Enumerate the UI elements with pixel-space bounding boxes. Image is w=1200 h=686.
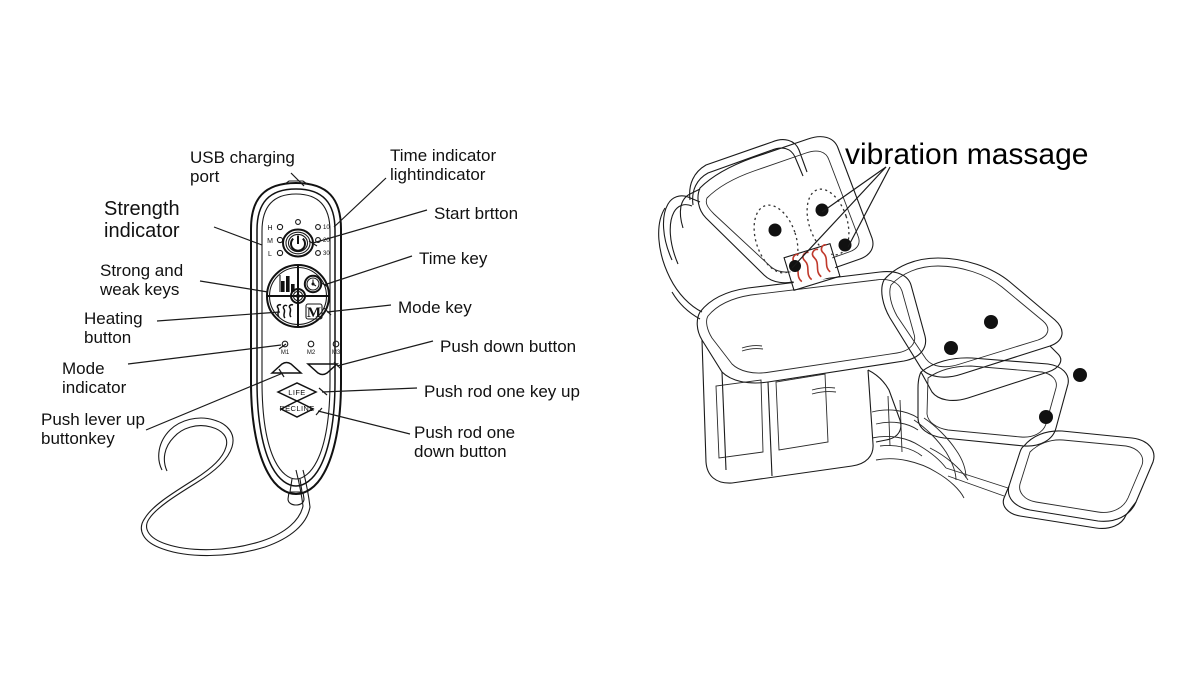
remote-cord (141, 418, 310, 555)
vibration-massage-point (984, 315, 998, 329)
callout-push-lever-up-buttonkey: Push lever up buttonkey (41, 410, 145, 448)
mode-indicator-leds: M1 M2 M3 (281, 341, 341, 356)
svg-text:M2: M2 (307, 350, 316, 356)
recliner-mechanism (872, 396, 1008, 498)
svg-text:M1: M1 (281, 350, 290, 356)
recliner-chair-illustration (659, 137, 1154, 529)
vibration-massage-point (816, 204, 829, 217)
vibration-massage-point (769, 224, 782, 237)
recline-button: RECLINE (279, 401, 314, 417)
svg-text:M: M (267, 238, 273, 245)
lift-button: LIFE (278, 383, 316, 401)
callout-usb-charging-port: USB charging port (190, 148, 295, 186)
status-led (296, 220, 301, 225)
massage-zone-outline (746, 200, 806, 279)
svg-text:LIFE: LIFE (288, 388, 305, 397)
diagram-page: H M L 10 20 30 (0, 0, 1200, 686)
vibration-massage-point (839, 239, 852, 252)
function-wheel: M (267, 265, 329, 327)
svg-text:30: 30 (323, 251, 330, 257)
vibration-massage-point (789, 260, 801, 272)
svg-text:H: H (267, 225, 272, 232)
down-chevron-button (308, 364, 337, 375)
callout-start-brtton: Start brtton (434, 204, 518, 223)
svg-text:10: 10 (323, 225, 330, 231)
svg-text:M: M (307, 305, 321, 321)
vibration-massage-point (1039, 410, 1053, 424)
callout-strong-and-weak-keys: Strong and weak keys (100, 261, 183, 299)
heat-waves-icon (277, 305, 293, 318)
callout-push-down-button: Push down button (440, 337, 576, 356)
heating-pad-icon (784, 243, 840, 290)
svg-text:M3: M3 (332, 350, 341, 356)
massage-zone-outline (799, 184, 856, 260)
chair-title-vibration-massage: vibration massage (845, 138, 1088, 171)
clock-timer-icon (305, 276, 321, 292)
callout-push-rod-one-key-up: Push rod one key up (424, 382, 580, 401)
up-chevron-button (272, 363, 301, 374)
callout-heating-button: Heating button (84, 309, 143, 347)
callout-time-key: Time key (419, 249, 487, 268)
strength-indicator-leds: H M L (267, 224, 283, 258)
center-round-button (291, 289, 305, 303)
bar-chart-icon (280, 275, 295, 292)
diagram-artwork: H M L 10 20 30 (0, 0, 1200, 686)
time-indicator-leds: 10 20 30 (316, 225, 331, 257)
svg-text:20: 20 (323, 238, 330, 244)
svg-text:L: L (268, 251, 272, 258)
callout-mode-key: Mode key (398, 298, 472, 317)
svg-text:RECLINE: RECLINE (279, 404, 314, 413)
chair-leader-lines (792, 167, 890, 268)
vibration-massage-point (1073, 368, 1087, 382)
callout-push-rod-one-down-button: Push rod one down button (414, 423, 515, 461)
callout-time-indicator-lightindicator: Time indicator lightindicator (390, 146, 496, 184)
callout-strength-indicator: Strength indicator (104, 198, 180, 243)
vibration-massage-point (944, 341, 958, 355)
power-start-button (283, 230, 313, 257)
letter-m-icon: M (306, 304, 322, 321)
callout-mode-indicator: Mode indicator (62, 359, 126, 397)
